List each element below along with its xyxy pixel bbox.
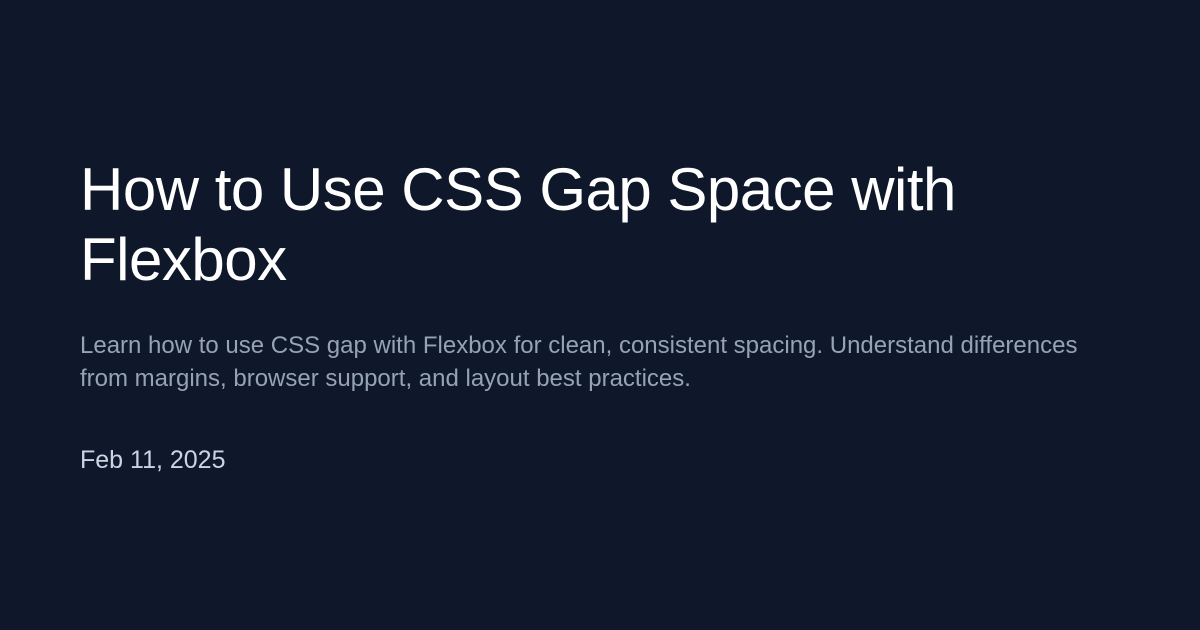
publish-date: Feb 11, 2025 bbox=[80, 445, 1120, 475]
card-description: Learn how to use CSS gap with Flexbox fo… bbox=[80, 329, 1110, 395]
og-card: How to Use CSS Gap Space with Flexbox Le… bbox=[0, 0, 1200, 630]
page-title: How to Use CSS Gap Space with Flexbox bbox=[80, 155, 1060, 295]
card-content: How to Use CSS Gap Space with Flexbox Le… bbox=[80, 155, 1120, 475]
